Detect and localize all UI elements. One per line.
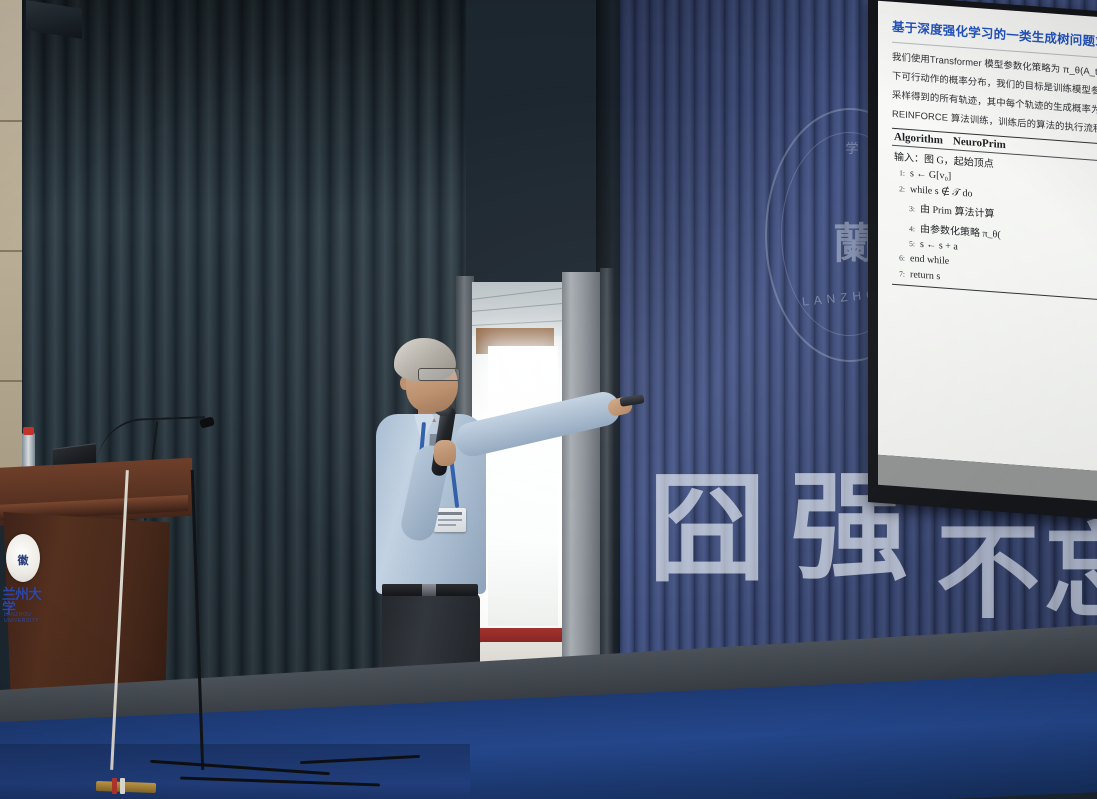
badge-text-line [438, 512, 462, 515]
bottle-cap-icon [23, 427, 34, 435]
algorithm-step-text: end while [910, 253, 949, 267]
wall-calligraphy-char-1: 囧 [648, 470, 766, 588]
presenter-name-badge [434, 508, 466, 532]
algorithm-step-number: 7: [894, 269, 905, 279]
white-plug-icon [120, 778, 125, 794]
projection-screen: 基于深度强化学习的一类生成树问题求 我们使用Transformer 模型参数化策… [868, 0, 1097, 519]
lectern-emblem-mark: 徽 [13, 552, 33, 568]
algorithm-name: NeuroPrim [953, 135, 1006, 151]
blue-carpet-floor-left [0, 744, 470, 799]
algorithm-step-number: 2: [894, 184, 905, 194]
algorithm-block: Algorithm NeuroPrim 输入：图 G，起始顶点 1: s ← G… [892, 127, 1097, 300]
algorithm-step-number: 4: [904, 223, 915, 233]
lectern-institution-sub: LANZHOU UNIVERSITY [4, 612, 64, 624]
algorithm-step-number: 5: [904, 239, 915, 249]
badge-text-line [438, 519, 462, 521]
algorithm-step-text: s ← s + a [920, 239, 958, 253]
wall-calligraphy-char-4: 忘 [1044, 520, 1097, 624]
wall-calligraphy-char-3: 不 [936, 520, 1040, 624]
algorithm-step-number: 6: [894, 253, 905, 263]
badge-text-line [438, 524, 456, 526]
algorithm-step-number: 3: [904, 204, 915, 214]
algorithm-step-text: return s [910, 269, 940, 282]
presentation-room-photo: 学 蘭 LANZHOU 囧 强 不 忘 基于深度强化学习的一类生成树问题求 我们… [0, 0, 1097, 799]
presenter-mic-hand [434, 440, 456, 466]
belt-buckle-icon [422, 584, 436, 596]
red-plug-icon [112, 778, 117, 794]
power-strip [96, 781, 156, 793]
algorithm-step-text: s ← G[v₀] [910, 168, 951, 182]
slide-surface: 基于深度强化学习的一类生成树问题求 我们使用Transformer 模型参数化策… [878, 1, 1097, 471]
algorithm-step-number: 1: [894, 168, 905, 178]
algorithm-label: Algorithm [894, 131, 943, 147]
eyeglasses-icon [418, 368, 460, 381]
